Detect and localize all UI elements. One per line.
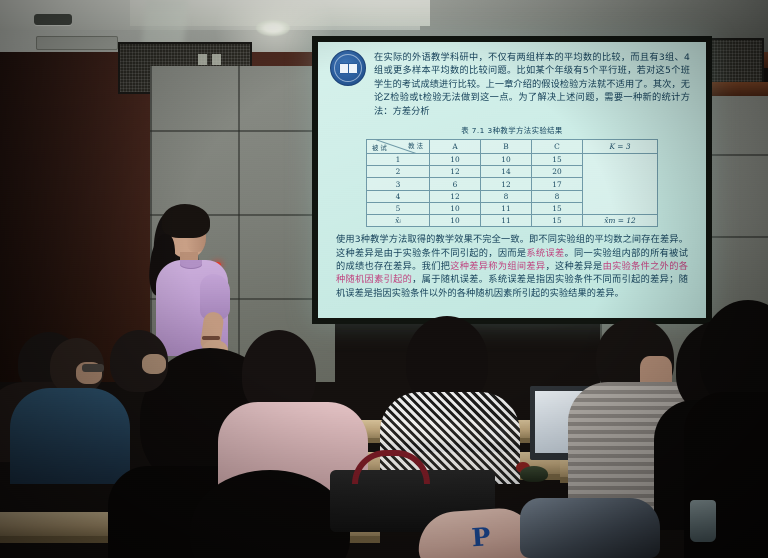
cell-c: 20 (532, 166, 583, 178)
table-corner-header: 教 法 被 试 (367, 140, 430, 154)
table-row: 1 10 10 15 (367, 154, 658, 166)
computer-mouse[interactable] (520, 466, 548, 482)
grille-highlight (198, 54, 207, 65)
table-mean-row: x̄ᵢ 10 11 15 x̄т = 12 (367, 214, 658, 226)
mean-a: 10 (430, 214, 481, 226)
column-header-c: C (532, 140, 583, 154)
cell-b: 14 (481, 166, 532, 178)
experiment-results-table: 教 法 被 试 A B C K = 3 1 10 (366, 139, 658, 227)
cell-a: 12 (430, 166, 481, 178)
cell-a: 10 (430, 154, 481, 166)
cell-c: 15 (532, 202, 583, 214)
seg-4: ，这种差异是 (545, 261, 602, 272)
k-merged-cell (583, 154, 658, 215)
slide-paragraph-bottom: 使用3种教学方法取得的教学效果不完全一致。即不同实验组的平均数之间存在差异。这种… (336, 233, 688, 300)
ceiling-vent-panel (36, 36, 118, 50)
cell-b: 10 (481, 154, 532, 166)
cell-b: 11 (481, 202, 532, 214)
projection-screen: 在实际的外语教学科研中，不仅有两组样本的平均数的比较，而且有3组、4组或更多样本… (318, 42, 706, 318)
cap-logo-letter: P (469, 523, 493, 552)
mean-c: 15 (532, 214, 583, 226)
cell-c: 15 (532, 154, 583, 166)
grille-highlight (212, 54, 221, 65)
cell-b: 12 (481, 178, 532, 190)
grand-mean-cell: x̄т = 12 (583, 214, 658, 226)
table-header-row: 教 法 被 试 A B C K = 3 (367, 140, 658, 154)
audience-member-glasses (100, 330, 190, 420)
ceiling-light-icon (256, 20, 290, 36)
slide-paragraph-top: 在实际的外语教学科研中，不仅有两组样本的平均数的比较，而且有3组、4组或更多样本… (374, 51, 690, 118)
slide-content: 在实际的外语教学科研中，不仅有两组样本的平均数的比较，而且有3组、4组或更多样本… (318, 42, 706, 318)
lecture-hall-photo: 在实际的外语教学科研中，不仅有两组样本的平均数的比较，而且有3组、4组或更多样本… (0, 0, 768, 558)
presenter-collar (180, 260, 202, 269)
row-label: 1 (367, 154, 430, 166)
water-bottle (690, 500, 716, 542)
column-header-b: B (481, 140, 532, 154)
row-label: 4 (367, 190, 430, 202)
corner-label-top: 教 法 (408, 141, 423, 150)
cell-c: 8 (532, 190, 583, 202)
cell-a: 6 (430, 178, 481, 190)
mean-row-label: x̄ᵢ (367, 214, 430, 226)
presenter-hair-fringe (188, 212, 208, 230)
ceiling-vent-icon (34, 14, 72, 25)
projection-screen-frame: 在实际的外语教学科研中，不仅有两组样本的平均数的比较，而且有3组、4组或更多样本… (312, 36, 712, 324)
folded-jacket (520, 498, 660, 558)
cell-b: 8 (481, 190, 532, 202)
seg-3-highlight: 这种差异称为组间差异 (450, 261, 545, 272)
row-label: 2 (367, 166, 430, 178)
column-header-k: K = 3 (583, 140, 658, 154)
cell-a: 10 (430, 202, 481, 214)
cell-a: 12 (430, 190, 481, 202)
row-label: 5 (367, 202, 430, 214)
university-emblem-icon (330, 50, 366, 86)
cell-c: 17 (532, 178, 583, 190)
seg-1-highlight: 系统误差 (526, 248, 564, 259)
column-header-a: A (430, 140, 481, 154)
corner-label-bottom: 被 试 (372, 143, 387, 152)
row-label: 3 (367, 178, 430, 190)
mean-b: 11 (481, 214, 532, 226)
table-caption: 表 7.1 3种教学方法实验结果 (328, 125, 696, 136)
